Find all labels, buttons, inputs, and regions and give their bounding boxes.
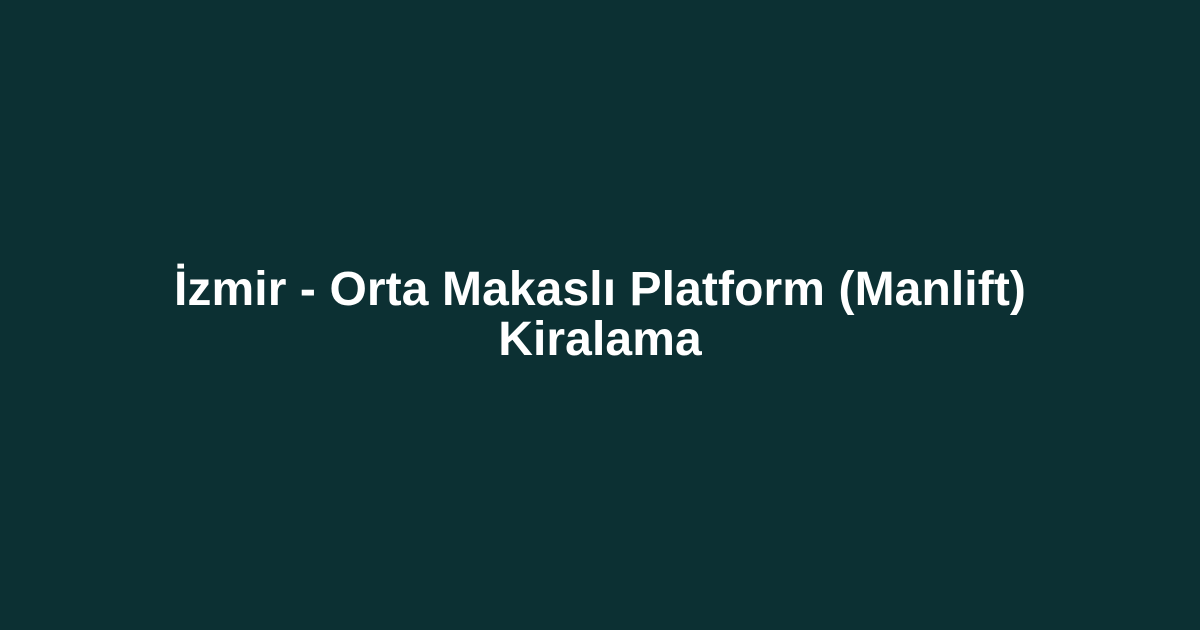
og-card-canvas: İzmir - Orta Makaslı Platform (Manlift) …	[0, 0, 1200, 630]
headline-block: İzmir - Orta Makaslı Platform (Manlift) …	[120, 265, 1080, 365]
page-title: İzmir - Orta Makaslı Platform (Manlift) …	[120, 265, 1080, 365]
